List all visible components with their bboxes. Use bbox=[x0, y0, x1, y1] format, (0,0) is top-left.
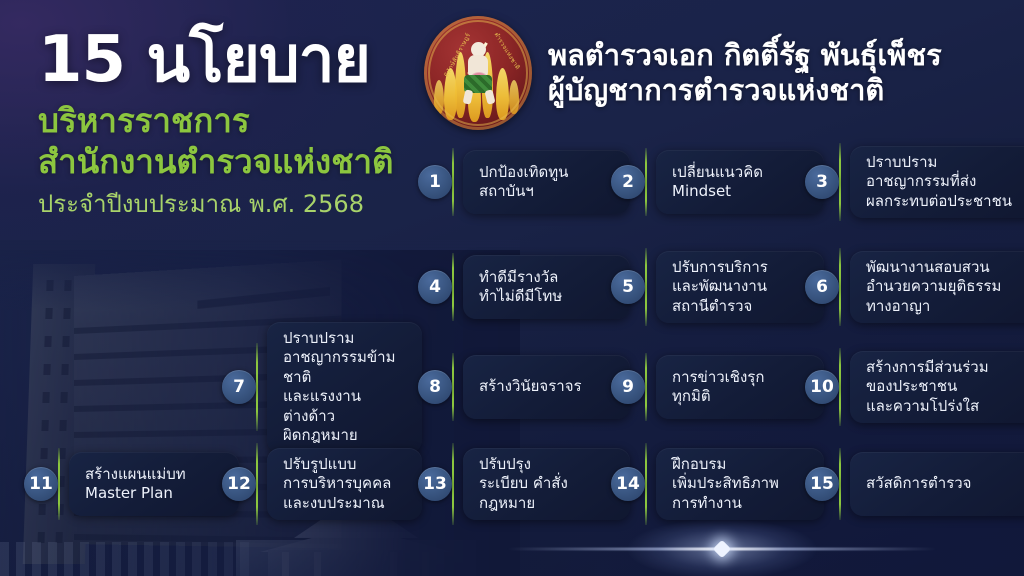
policy-text: ฝึกอบรม เพิ่มประสิทธิภาพ การทำงาน bbox=[672, 455, 779, 514]
policy-card[interactable]: ทำดีมีรางวัล ทำไม่ดีมีโทษ bbox=[463, 255, 630, 319]
policy-divider bbox=[58, 448, 60, 520]
royal-thai-police-emblem-icon: พิทักษ์สันติราษฎร์ ตำรวจแห่งชาติ bbox=[424, 16, 532, 130]
policy-divider bbox=[645, 248, 647, 326]
policy-item-10[interactable]: 10 สร้างการมีส่วนร่วม ของประชาชน และความ… bbox=[805, 348, 1024, 426]
policy-item-7[interactable]: 7 ปราบปราม อาชญากรรมข้ามชาติ และแรงงานต่… bbox=[222, 343, 422, 431]
policy-item-5[interactable]: 5 ปรับการบริการ และพัฒนางาน สถานีตำรวจ bbox=[611, 248, 824, 326]
policy-card[interactable]: ฝึกอบรม เพิ่มประสิทธิภาพ การทำงาน bbox=[656, 448, 824, 521]
policy-card[interactable]: ปราบปราม อาชญากรรมข้ามชาติ และแรงงานต่าง… bbox=[267, 322, 422, 453]
hq-roof-sign bbox=[197, 287, 330, 309]
policy-card[interactable]: ปรับการบริการ และพัฒนางาน สถานีตำรวจ bbox=[656, 251, 824, 324]
policy-item-15[interactable]: 15 สวัสดิการตำรวจ bbox=[805, 448, 1024, 520]
policy-divider bbox=[645, 353, 647, 421]
policy-text: สร้างแผนแม่บท Master Plan bbox=[85, 465, 186, 504]
policy-item-12[interactable]: 12 ปรับรูปแบบ การบริหารบุคคล และงบประมาณ bbox=[222, 443, 422, 525]
policy-card[interactable]: ปราบปราม อาชญากรรมที่ส่ง ผลกระทบต่อประชา… bbox=[850, 146, 1024, 219]
policy-number-badge: 10 bbox=[805, 370, 839, 404]
policy-divider bbox=[645, 443, 647, 525]
policy-divider bbox=[839, 348, 841, 426]
page-title: 15 นโยบาย bbox=[38, 28, 438, 93]
policy-divider bbox=[452, 443, 454, 525]
policy-number-badge: 2 bbox=[611, 165, 645, 199]
policy-card[interactable]: ปกป้องเทิดทูน สถาบันฯ bbox=[463, 150, 630, 214]
subtitle-line-2: สำนักงานตำรวจแห่งชาติ bbox=[38, 142, 438, 183]
policy-divider bbox=[452, 353, 454, 421]
policy-divider bbox=[839, 448, 841, 520]
policy-card[interactable]: ปรับปรุง ระเบียบ คำสั่ง กฎหมาย bbox=[463, 448, 630, 521]
subtitle-line-1: บริหารราชการ bbox=[38, 101, 438, 142]
policy-item-4[interactable]: 4 ทำดีมีรางวัล ทำไม่ดีมีโทษ bbox=[418, 253, 630, 321]
policy-number-badge: 15 bbox=[805, 467, 839, 501]
policy-number-badge: 12 bbox=[222, 467, 256, 501]
policy-item-3[interactable]: 3 ปราบปราม อาชญากรรมที่ส่ง ผลกระทบต่อประ… bbox=[805, 143, 1024, 221]
policy-card[interactable]: ปรับรูปแบบ การบริหารบุคคล และงบประมาณ bbox=[267, 448, 422, 521]
policy-card[interactable]: สร้างการมีส่วนร่วม ของประชาชน และความโปร… bbox=[850, 351, 1024, 424]
policy-item-6[interactable]: 6 พัฒนางานสอบสวน อำนวยความยุติธรรม ทางอา… bbox=[805, 248, 1024, 326]
policy-text: ปรับรูปแบบ การบริหารบุคคล และงบประมาณ bbox=[283, 455, 391, 514]
policy-number-badge: 11 bbox=[24, 467, 58, 501]
policy-card[interactable]: พัฒนางานสอบสวน อำนวยความยุติธรรม ทางอาญา bbox=[850, 251, 1024, 324]
policy-card[interactable]: การข่าวเชิงรุก ทุกมิติ bbox=[656, 355, 824, 419]
policy-item-13[interactable]: 13 ปรับปรุง ระเบียบ คำสั่ง กฎหมาย bbox=[418, 443, 630, 525]
policy-text: สวัสดิการตำรวจ bbox=[866, 474, 971, 494]
policy-text: พัฒนางานสอบสวน อำนวยความยุติธรรม ทางอาญา bbox=[866, 258, 1001, 317]
policy-text: ปรับปรุง ระเบียบ คำสั่ง กฎหมาย bbox=[479, 455, 568, 514]
policy-divider bbox=[452, 148, 454, 216]
policy-divider bbox=[256, 343, 258, 431]
officer-name-block: พลตำรวจเอก กิตติ์รัฐ พันธุ์เพ็ชร ผู้บัญช… bbox=[548, 38, 942, 109]
policy-text: สร้างการมีส่วนร่วม ของประชาชน และความโปร… bbox=[866, 358, 989, 417]
policy-text: ปกป้องเทิดทูน สถาบันฯ bbox=[479, 163, 568, 202]
policy-text: ปราบปราม อาชญากรรมข้ามชาติ และแรงงานต่าง… bbox=[283, 329, 408, 446]
policy-item-11[interactable]: 11 สร้างแผนแม่บท Master Plan bbox=[24, 448, 239, 520]
policy-card[interactable]: สวัสดิการตำรวจ bbox=[850, 452, 1024, 516]
policy-number-badge: 5 bbox=[611, 270, 645, 304]
policy-number-badge: 8 bbox=[418, 370, 452, 404]
officer-header: พิทักษ์สันติราษฎร์ ตำรวจแห่งชาติ พลตำรวจ… bbox=[424, 16, 942, 130]
policy-card[interactable]: สร้างวินัยจราจร bbox=[463, 355, 630, 419]
policy-text: เปลี่ยนแนวคิด Mindset bbox=[672, 163, 763, 202]
policy-card[interactable]: สร้างแผนแม่บท Master Plan bbox=[69, 452, 239, 516]
policy-text: ปราบปราม อาชญากรรมที่ส่ง ผลกระทบต่อประชา… bbox=[866, 153, 1012, 212]
policy-divider bbox=[839, 248, 841, 326]
policy-divider bbox=[452, 253, 454, 321]
policy-number-badge: 9 bbox=[611, 370, 645, 404]
policy-item-14[interactable]: 14 ฝึกอบรม เพิ่มประสิทธิภาพ การทำงาน bbox=[611, 443, 824, 525]
poster-title-block: 15 นโยบาย บริหารราชการ สำนักงานตำรวจแห่ง… bbox=[38, 28, 438, 219]
policy-divider bbox=[645, 148, 647, 216]
policy-card[interactable]: เปลี่ยนแนวคิด Mindset bbox=[656, 150, 824, 214]
policy-number-badge: 1 bbox=[418, 165, 452, 199]
policy-item-1[interactable]: 1 ปกป้องเทิดทูน สถาบันฯ bbox=[418, 148, 630, 216]
officer-position: ผู้บัญชาการตำรวจแห่งชาติ bbox=[548, 73, 942, 108]
policy-number-badge: 7 bbox=[222, 370, 256, 404]
policy-item-2[interactable]: 2 เปลี่ยนแนวคิด Mindset bbox=[611, 148, 824, 216]
title-number: 15 bbox=[38, 23, 125, 97]
policy-divider bbox=[839, 143, 841, 221]
fiscal-year-label: ประจำปีงบประมาณ พ.ศ. 2568 bbox=[38, 190, 438, 219]
title-word: นโยบาย bbox=[146, 23, 370, 97]
policy-item-9[interactable]: 9 การข่าวเชิงรุก ทุกมิติ bbox=[611, 353, 824, 421]
policy-item-8[interactable]: 8 สร้างวินัยจราจร bbox=[418, 353, 630, 421]
policy-text: ทำดีมีรางวัล ทำไม่ดีมีโทษ bbox=[479, 268, 562, 307]
background-skyline bbox=[0, 542, 250, 576]
policy-number-badge: 13 bbox=[418, 467, 452, 501]
policy-text: การข่าวเชิงรุก ทุกมิติ bbox=[672, 368, 764, 407]
policy-number-badge: 4 bbox=[418, 270, 452, 304]
policy-number-badge: 6 bbox=[805, 270, 839, 304]
policy-number-badge: 14 bbox=[611, 467, 645, 501]
policy-text: สร้างวินัยจราจร bbox=[479, 377, 582, 397]
policy-divider bbox=[256, 443, 258, 525]
policy-text: ปรับการบริการ และพัฒนางาน สถานีตำรวจ bbox=[672, 258, 768, 317]
officer-name: พลตำรวจเอก กิตติ์รัฐ พันธุ์เพ็ชร bbox=[548, 38, 942, 73]
policy-number-badge: 3 bbox=[805, 165, 839, 199]
policy-infographic-poster: 15 นโยบาย บริหารราชการ สำนักงานตำรวจแห่ง… bbox=[0, 0, 1024, 576]
